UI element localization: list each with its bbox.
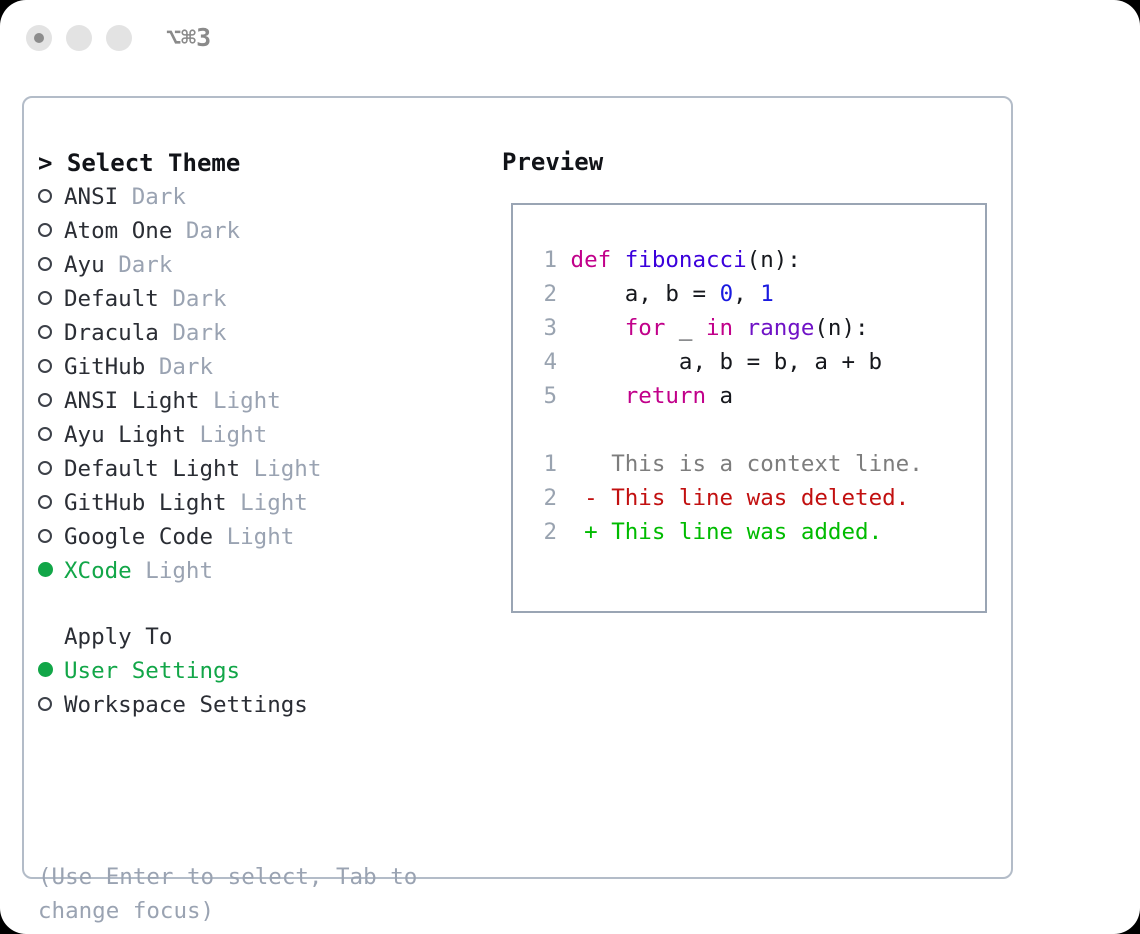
theme-option-bullet	[38, 214, 64, 248]
code-token	[733, 315, 747, 341]
code-token: (n):	[814, 315, 868, 341]
theme-option-variant: Light	[199, 422, 267, 448]
theme-option-variant: Light	[213, 388, 281, 414]
theme-option-bullet	[38, 452, 64, 486]
theme-option-bullet	[38, 520, 64, 554]
window-dot-active[interactable]	[26, 25, 52, 51]
theme-option-bullet	[38, 384, 64, 418]
diff-line-number: 2	[529, 515, 557, 549]
radio-unselected-icon	[38, 359, 52, 373]
theme-options-list: ANSI DarkAtom One DarkAyu DarkDefault Da…	[38, 180, 488, 588]
code-token: 1	[760, 281, 774, 307]
theme-option-default-light[interactable]: Default Light Light	[38, 452, 488, 486]
code-line: 2 a, b = 0, 1	[529, 277, 923, 311]
code-line-number: 3	[529, 311, 557, 345]
theme-picker-card: > Select Theme ANSI DarkAtom One DarkAyu…	[22, 96, 1013, 879]
theme-option-default[interactable]: Default Dark	[38, 282, 488, 316]
radio-unselected-icon	[38, 529, 52, 543]
theme-option-variant: Dark	[172, 286, 226, 312]
preview-title: Preview	[502, 148, 603, 176]
radio-unselected-icon	[38, 427, 52, 441]
code-preview: 1 def fibonacci(n):2 a, b = 0, 13 for _ …	[529, 243, 923, 549]
radio-selected-icon	[38, 662, 53, 677]
radio-unselected-icon	[38, 257, 52, 271]
window-dot-2[interactable]	[66, 25, 92, 51]
code-line-number: 2	[529, 277, 557, 311]
diff-text: This is a context line.	[611, 451, 923, 477]
radio-unselected-icon	[38, 495, 52, 509]
theme-option-xcode[interactable]: XCode Light	[38, 554, 488, 588]
theme-option-github[interactable]: GitHub Dark	[38, 350, 488, 384]
theme-option-bullet	[38, 418, 64, 452]
theme-option-ayu-light[interactable]: Ayu Light Light	[38, 418, 488, 452]
theme-option-ansi-light[interactable]: ANSI Light Light	[38, 384, 488, 418]
theme-option-variant: Dark	[159, 354, 213, 380]
help-line-2: change focus)	[38, 894, 458, 928]
diff-line-number: 1	[529, 447, 557, 481]
select-theme-header: > Select Theme	[38, 146, 488, 180]
code-token	[571, 383, 625, 409]
theme-option-bullet	[38, 282, 64, 316]
code-line: 3 for _ in range(n):	[529, 311, 923, 345]
radio-unselected-icon	[38, 189, 52, 203]
code-token: in	[706, 315, 733, 341]
apply-to-option-bullet	[38, 688, 64, 722]
keyboard-shortcut-label: ⌥⌘3	[166, 23, 211, 52]
diff-line-number: 2	[529, 481, 557, 515]
code-line-number: 1	[529, 243, 557, 277]
diff-marker: -	[584, 485, 611, 511]
radio-unselected-icon	[38, 697, 52, 711]
theme-option-name: Default Light	[64, 456, 240, 482]
code-token: a, b =	[571, 281, 720, 307]
theme-option-variant: Dark	[118, 252, 172, 278]
theme-option-variant: Dark	[186, 218, 240, 244]
help-text: (Use Enter to select, Tab to change focu…	[38, 860, 458, 928]
diff-text: This line was added.	[611, 519, 882, 545]
apply-to-option-workspace-settings[interactable]: Workspace Settings	[38, 688, 488, 722]
apply-to-option-bullet	[38, 654, 64, 688]
code-token: _	[665, 315, 706, 341]
code-token: (n):	[747, 247, 801, 273]
window-dot-3[interactable]	[106, 25, 132, 51]
theme-option-ansi[interactable]: ANSI Dark	[38, 180, 488, 214]
theme-option-name: GitHub Light	[64, 490, 227, 516]
theme-option-variant: Light	[227, 524, 295, 550]
code-line: 5 return a	[529, 379, 923, 413]
theme-option-bullet	[38, 486, 64, 520]
title-bar: ⌥⌘3	[0, 0, 1140, 78]
help-line-1: (Use Enter to select, Tab to	[38, 860, 458, 894]
code-token: a, b = b, a + b	[571, 349, 883, 375]
diff-line-ctx: 1 This is a context line.	[529, 447, 923, 481]
theme-option-variant: Light	[145, 558, 213, 584]
radio-unselected-icon	[38, 393, 52, 407]
diff-marker: +	[584, 519, 611, 545]
code-line: 1 def fibonacci(n):	[529, 243, 923, 277]
theme-list-panel: > Select Theme ANSI DarkAtom One DarkAyu…	[38, 146, 488, 722]
theme-option-name: XCode	[64, 558, 132, 584]
apply-to-option-label: Workspace Settings	[64, 692, 308, 718]
code-token: fibonacci	[625, 247, 747, 273]
radio-unselected-icon	[38, 223, 52, 237]
theme-option-name: Default	[64, 286, 159, 312]
code-token: ,	[733, 281, 760, 307]
code-diff-spacer	[529, 413, 923, 447]
code-token: for	[625, 315, 666, 341]
section-spacer	[38, 588, 488, 620]
radio-selected-icon	[38, 562, 53, 577]
theme-option-name: Ayu	[64, 252, 105, 278]
active-dot-icon	[34, 33, 44, 43]
theme-option-name: Google Code	[64, 524, 213, 550]
theme-option-variant: Light	[254, 456, 322, 482]
theme-option-name: Ayu Light	[64, 422, 186, 448]
radio-unselected-icon	[38, 461, 52, 475]
code-token: 0	[720, 281, 734, 307]
theme-option-name: GitHub	[64, 354, 145, 380]
diff-line-add: 2 + This line was added.	[529, 515, 923, 549]
theme-option-bullet	[38, 316, 64, 350]
code-token: range	[747, 315, 815, 341]
code-line: 4 a, b = b, a + b	[529, 345, 923, 379]
theme-option-google-code[interactable]: Google Code Light	[38, 520, 488, 554]
theme-option-name: ANSI	[64, 184, 118, 210]
diff-marker	[584, 451, 611, 477]
theme-option-atom-one[interactable]: Atom One Dark	[38, 214, 488, 248]
apply-to-header: Apply To	[38, 620, 488, 654]
theme-option-variant: Dark	[132, 184, 186, 210]
apply-to-option-label: User Settings	[64, 658, 240, 684]
theme-option-variant: Dark	[172, 320, 226, 346]
theme-option-bullet	[38, 180, 64, 214]
theme-option-name: Atom One	[64, 218, 172, 244]
code-line-number: 5	[529, 379, 557, 413]
code-line-number: 4	[529, 345, 557, 379]
theme-option-variant: Light	[240, 490, 308, 516]
preview-box: 1 def fibonacci(n):2 a, b = 0, 13 for _ …	[511, 203, 987, 613]
theme-option-github-light[interactable]: GitHub Light Light	[38, 486, 488, 520]
app-window: ⌥⌘3 > Select Theme ANSI DarkAtom One Dar…	[0, 0, 1140, 934]
diff-line-del: 2 - This line was deleted.	[529, 481, 923, 515]
theme-option-name: Dracula	[64, 320, 159, 346]
theme-option-dracula[interactable]: Dracula Dark	[38, 316, 488, 350]
code-token: return	[625, 383, 706, 409]
theme-option-bullet	[38, 350, 64, 384]
theme-option-ayu[interactable]: Ayu Dark	[38, 248, 488, 282]
radio-unselected-icon	[38, 291, 52, 305]
apply-to-option-user-settings[interactable]: User Settings	[38, 654, 488, 688]
apply-to-options-list: User SettingsWorkspace Settings	[38, 654, 488, 722]
code-token	[571, 315, 625, 341]
diff-text: This line was deleted.	[611, 485, 909, 511]
theme-option-name: ANSI Light	[64, 388, 199, 414]
theme-option-bullet	[38, 554, 64, 588]
theme-option-bullet	[38, 248, 64, 282]
radio-unselected-icon	[38, 325, 52, 339]
code-token: a	[706, 383, 733, 409]
code-token: def	[571, 247, 625, 273]
